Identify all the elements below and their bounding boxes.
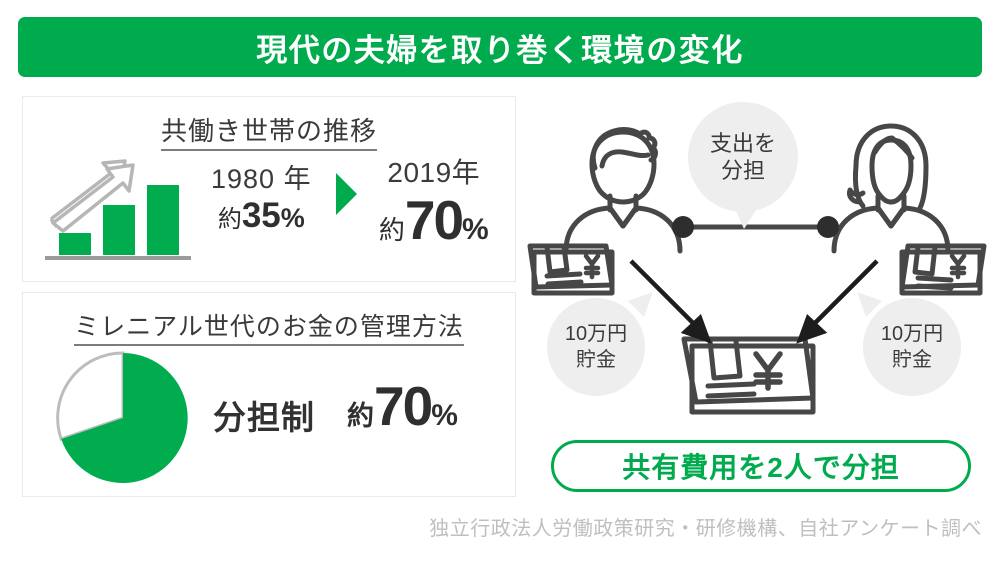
speech-bubble-savings-right: 10万円 貯金	[863, 298, 961, 396]
mgmt-number: 70	[374, 375, 431, 437]
mgmt-value: 約70%	[341, 379, 464, 439]
card-dual-income-trend: 共働き世帯の推移 1980 年 約35% 2019年	[22, 96, 516, 282]
speech-bubble-savings-left: 10万円 貯金	[547, 298, 645, 396]
card-money-management: ミレニアル世代のお金の管理方法 分担制 約70%	[22, 292, 516, 497]
yen-wallet-icon-right	[902, 246, 984, 293]
bubble-top-line2: 分担	[721, 157, 765, 185]
trend-old-number: 35	[242, 196, 281, 235]
mgmt-result-row: 分担制 約70%	[213, 379, 464, 439]
mgmt-label: 分担制	[213, 391, 315, 439]
speech-bubble-share-expenses: 支出を 分担	[688, 102, 798, 212]
shared-cost-pill-label: 共有費用を2人で分担	[622, 446, 900, 486]
trend-new-approx: 約	[379, 215, 405, 245]
yen-wallet-icon-left	[530, 246, 612, 293]
bubble-top-line1: 支出を	[710, 130, 776, 158]
trend-new-year: 2019年	[387, 151, 480, 191]
bar-chart-growth-icon	[41, 149, 201, 265]
trend-new-block: 2019年 約70%	[363, 151, 505, 254]
bubble-left-line1: 10万円	[565, 321, 627, 347]
source-note: 独立行政法人労働政策研究・研修機構、自社アンケート調べ	[0, 512, 982, 541]
mgmt-approx: 約	[347, 401, 374, 431]
triangle-right-icon	[336, 173, 357, 215]
bubble-left-line2: 貯金	[576, 347, 616, 373]
mgmt-unit: %	[431, 399, 458, 432]
female-person-icon	[834, 126, 948, 251]
trend-old-approx: 約	[218, 206, 242, 233]
card-trend-heading: 共働き世帯の推移	[23, 111, 515, 148]
infographic-root: 現代の夫婦を取り巻く環境の変化 共働き世帯の推移 1980 年 約35%	[0, 0, 1000, 571]
trend-new-value: 約70%	[375, 193, 493, 254]
card-mgmt-heading-text: ミレニアル世代のお金の管理方法	[74, 313, 464, 346]
trend-old-value: 約35%	[218, 196, 305, 236]
pie-chart-icon	[53, 347, 203, 489]
trend-new-number: 70	[405, 189, 462, 251]
couple-sharing-illustration: 支出を 分担 10万円 貯金 10万円 貯金	[520, 96, 990, 496]
male-person-icon	[566, 130, 680, 251]
shared-cost-pill: 共有費用を2人で分担	[551, 440, 971, 492]
page-title-banner: 現代の夫婦を取り巻く環境の変化	[18, 17, 982, 77]
trend-old-block: 1980 年 約35%	[193, 151, 330, 236]
card-trend-heading-text: 共働き世帯の推移	[161, 116, 377, 151]
bubble-right-line1: 10万円	[881, 321, 943, 347]
dot-line-connector-icon	[672, 216, 839, 238]
trend-comparison: 1980 年 約35% 2019年 約70%	[193, 151, 505, 271]
yen-wallet-icon-center	[684, 339, 813, 412]
trend-new-unit: %	[462, 213, 489, 246]
bubble-right-line2: 貯金	[892, 347, 932, 373]
page-title: 現代の夫婦を取り巻く環境の変化	[256, 25, 744, 70]
trend-old-unit: %	[281, 203, 305, 233]
card-mgmt-heading: ミレニアル世代のお金の管理方法	[23, 307, 515, 343]
trend-old-year: 1980 年	[211, 157, 312, 196]
